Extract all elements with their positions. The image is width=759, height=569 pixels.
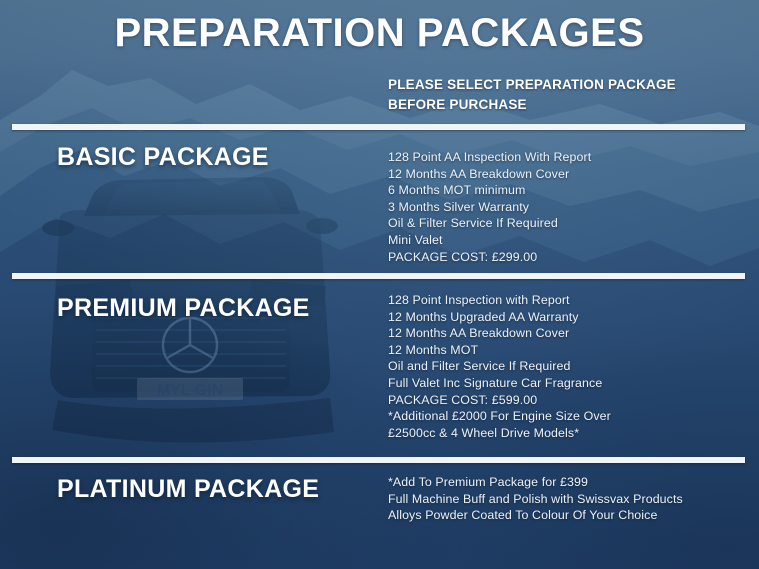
package-feature-item: 128 Point Inspection with Report — [388, 292, 611, 309]
package-title-platinum[interactable]: PLATINUM PACKAGE — [57, 475, 319, 504]
package-title-basic[interactable]: BASIC PACKAGE — [57, 143, 269, 172]
package-features-premium: 128 Point Inspection with Report 12 Mont… — [388, 292, 611, 441]
package-surcharge-note-line-1: *Additional £2000 For Engine Size Over — [388, 408, 611, 425]
package-feature-item: 128 Point AA Inspection With Report — [388, 149, 591, 166]
package-features-platinum: *Add To Premium Package for £399 Full Ma… — [388, 474, 683, 524]
package-surcharge-note-line-2: £2500cc & 4 Wheel Drive Models* — [388, 425, 611, 442]
section-divider-bottom — [12, 457, 745, 463]
section-divider-top — [12, 124, 745, 130]
package-feature-item: 3 Months Silver Warranty — [388, 199, 591, 216]
package-feature-item: 6 Months MOT minimum — [388, 182, 591, 199]
package-features-basic: 128 Point AA Inspection With Report 12 M… — [388, 149, 591, 265]
package-cost-premium: PACKAGE COST: £599.00 — [388, 392, 611, 409]
package-feature-item: Mini Valet — [388, 232, 591, 249]
package-feature-item: 12 Months MOT — [388, 342, 611, 359]
package-feature-item: 12 Months AA Breakdown Cover — [388, 166, 591, 183]
selection-instruction-line-2: BEFORE PURCHASE — [388, 95, 728, 115]
selection-instruction: PLEASE SELECT PREPARATION PACKAGE BEFORE… — [388, 75, 728, 115]
package-feature-item: Alloys Powder Coated To Colour Of Your C… — [388, 507, 683, 524]
package-feature-item: Full Valet Inc Signature Car Fragrance — [388, 375, 611, 392]
package-feature-item: Oil & Filter Service If Required — [388, 215, 591, 232]
page-title: PREPARATION PACKAGES — [0, 8, 759, 58]
preparation-packages-banner: MYL GIN PREPARATION PACKAGES PLEASE SELE… — [0, 0, 759, 569]
section-divider-middle — [12, 273, 745, 279]
package-feature-item: Oil and Filter Service If Required — [388, 358, 611, 375]
package-cost-basic: PACKAGE COST: £299.00 — [388, 249, 591, 266]
package-cost-platinum: *Add To Premium Package for £399 — [388, 474, 683, 491]
content-layer: PREPARATION PACKAGES PLEASE SELECT PREPA… — [0, 0, 759, 569]
package-feature-item: 12 Months AA Breakdown Cover — [388, 325, 611, 342]
package-title-premium[interactable]: PREMIUM PACKAGE — [57, 294, 310, 323]
selection-instruction-line-1: PLEASE SELECT PREPARATION PACKAGE — [388, 75, 728, 95]
package-feature-item: 12 Months Upgraded AA Warranty — [388, 309, 611, 326]
package-feature-item: Full Machine Buff and Polish with Swissv… — [388, 491, 683, 508]
